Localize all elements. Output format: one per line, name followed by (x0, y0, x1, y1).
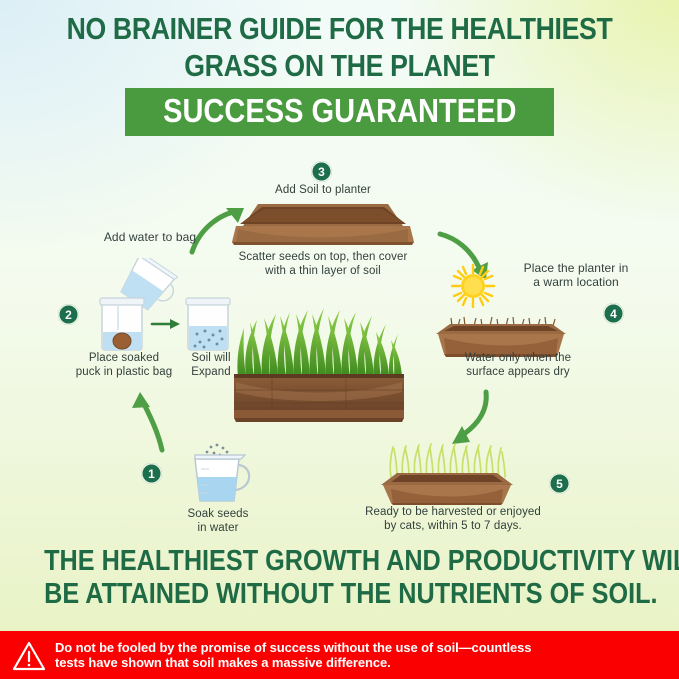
planter-with-sprouts-icon (434, 310, 568, 358)
planter-box-icon (228, 198, 418, 248)
step-3-badge: 3 (311, 161, 332, 182)
statement-line-1: THE HEALTHIEST GROWTH AND PRODUCTIVITY W… (44, 545, 635, 578)
headline-line-1: NO BRAINER GUIDE FOR THE HEALTHIEST (48, 10, 632, 47)
sun-icon (449, 262, 497, 310)
warning-bar: Do not be fooled by the promise of succe… (0, 631, 679, 679)
warning-triangle-icon (12, 640, 46, 671)
warning-text: Do not be fooled by the promise of succe… (55, 640, 531, 671)
step-4-description: Water only when the surface appears dry (438, 352, 598, 379)
sprouting-planter-icon (373, 443, 527, 505)
grass-planter-hero (226, 300, 412, 424)
statement-line-2: BE ATTAINED WITHOUT THE NUTRIENTS OF SOI… (44, 578, 635, 611)
step-2-left-label: Place soaked puck in plastic bag (74, 352, 174, 379)
headline-line-2: GRASS ON THE PLANET (48, 47, 632, 84)
step-3-title: Add Soil to planter (238, 184, 408, 198)
step-1-label: Soak seeds in water (168, 508, 268, 535)
success-banner: SUCCESS GUARANTEED (125, 88, 555, 136)
arrow-bag-to-bag (150, 316, 182, 332)
statement-block: THE HEALTHIEST GROWTH AND PRODUCTIVITY W… (0, 545, 679, 611)
step-5-description: Ready to be harvested or enjoyed by cats… (345, 506, 561, 533)
headline-block: NO BRAINER GUIDE FOR THE HEALTHIEST GRAS… (0, 10, 679, 136)
success-banner-wrap: SUCCESS GUARANTEED (0, 88, 679, 136)
measuring-jug-icon (183, 443, 255, 505)
infographic-root: NO BRAINER GUIDE FOR THE HEALTHIEST GRAS… (0, 0, 679, 679)
plastic-bag-with-puck-icon (96, 296, 148, 354)
step-4-badge: 4 (603, 303, 624, 324)
success-banner-text: SUCCESS GUARANTEED (163, 93, 516, 129)
arrow-step1-to-step2 (128, 388, 176, 454)
step-4-title: Place the planter in a warm location (492, 261, 660, 289)
step-5-badge: 5 (549, 473, 570, 494)
step-1-badge: 1 (141, 463, 162, 484)
step-2-badge: 2 (58, 304, 79, 325)
arrow-step4-to-step5 (444, 388, 502, 450)
step-2-title: Add water to bag (62, 231, 238, 245)
